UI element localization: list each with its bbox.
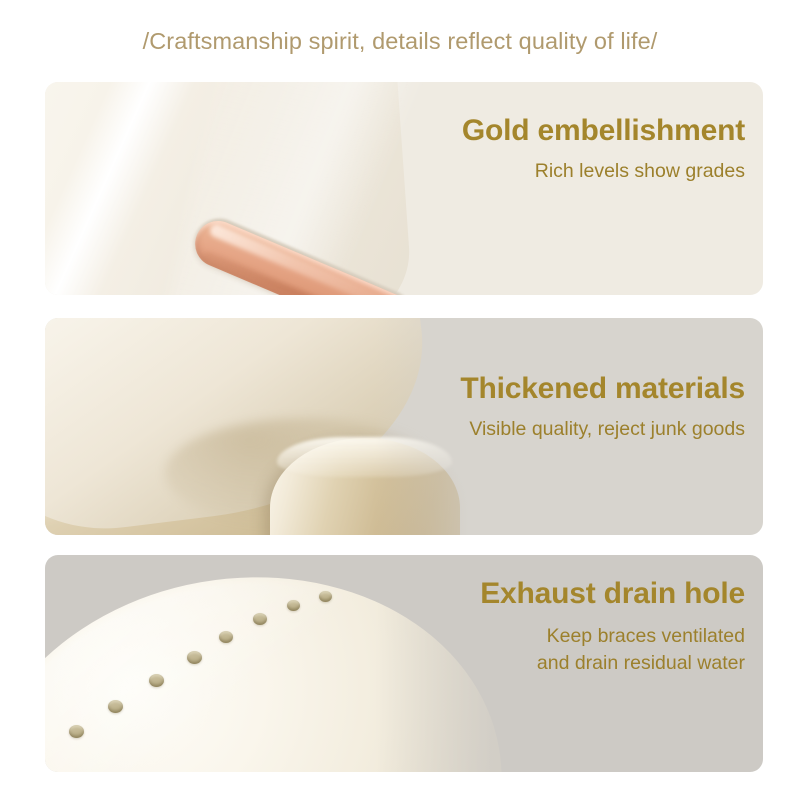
panel-3-text-block: Exhaust drain hole Keep braces ventilate…: [480, 577, 745, 678]
panel-1-subtitle-line-1: Rich levels show grades: [462, 158, 745, 186]
panel-3-subtitle: Keep braces ventilated and drain residua…: [480, 623, 745, 678]
feature-panel-thickened-materials: Thickened materials Visible quality, rej…: [45, 318, 763, 535]
drain-hole: [287, 600, 300, 611]
drain-hole: [108, 700, 123, 713]
panel-3-subtitle-line-1: Keep braces ventilated: [480, 623, 745, 651]
panel-2-subtitle: Visible quality, reject junk goods: [460, 416, 745, 444]
feature-panel-exhaust-drain-hole: Exhaust drain hole Keep braces ventilate…: [45, 555, 763, 772]
panel-2-subtitle-line-1: Visible quality, reject junk goods: [460, 416, 745, 444]
panel-2-title: Thickened materials: [460, 372, 745, 407]
drain-hole: [319, 591, 332, 602]
drain-hole: [187, 651, 202, 664]
panel-2-text-block: Thickened materials Visible quality, rej…: [460, 372, 745, 443]
panel-1-text-block: Gold embellishment Rich levels show grad…: [462, 114, 745, 185]
panel-1-subtitle: Rich levels show grades: [462, 158, 745, 186]
drain-hole: [69, 725, 84, 738]
panel-1-title: Gold embellishment: [462, 114, 745, 149]
drain-hole: [149, 674, 164, 687]
drain-hole: [219, 631, 233, 643]
page-header: /Craftsmanship spirit, details reflect q…: [0, 0, 800, 82]
panel-3-subtitle-line-2: and drain residual water: [480, 650, 745, 678]
drain-hole: [253, 613, 267, 625]
page-headline: /Craftsmanship spirit, details reflect q…: [143, 28, 658, 55]
feature-panel-gold-embellishment: Gold embellishment Rich levels show grad…: [45, 82, 763, 295]
panel-3-title: Exhaust drain hole: [480, 577, 745, 612]
